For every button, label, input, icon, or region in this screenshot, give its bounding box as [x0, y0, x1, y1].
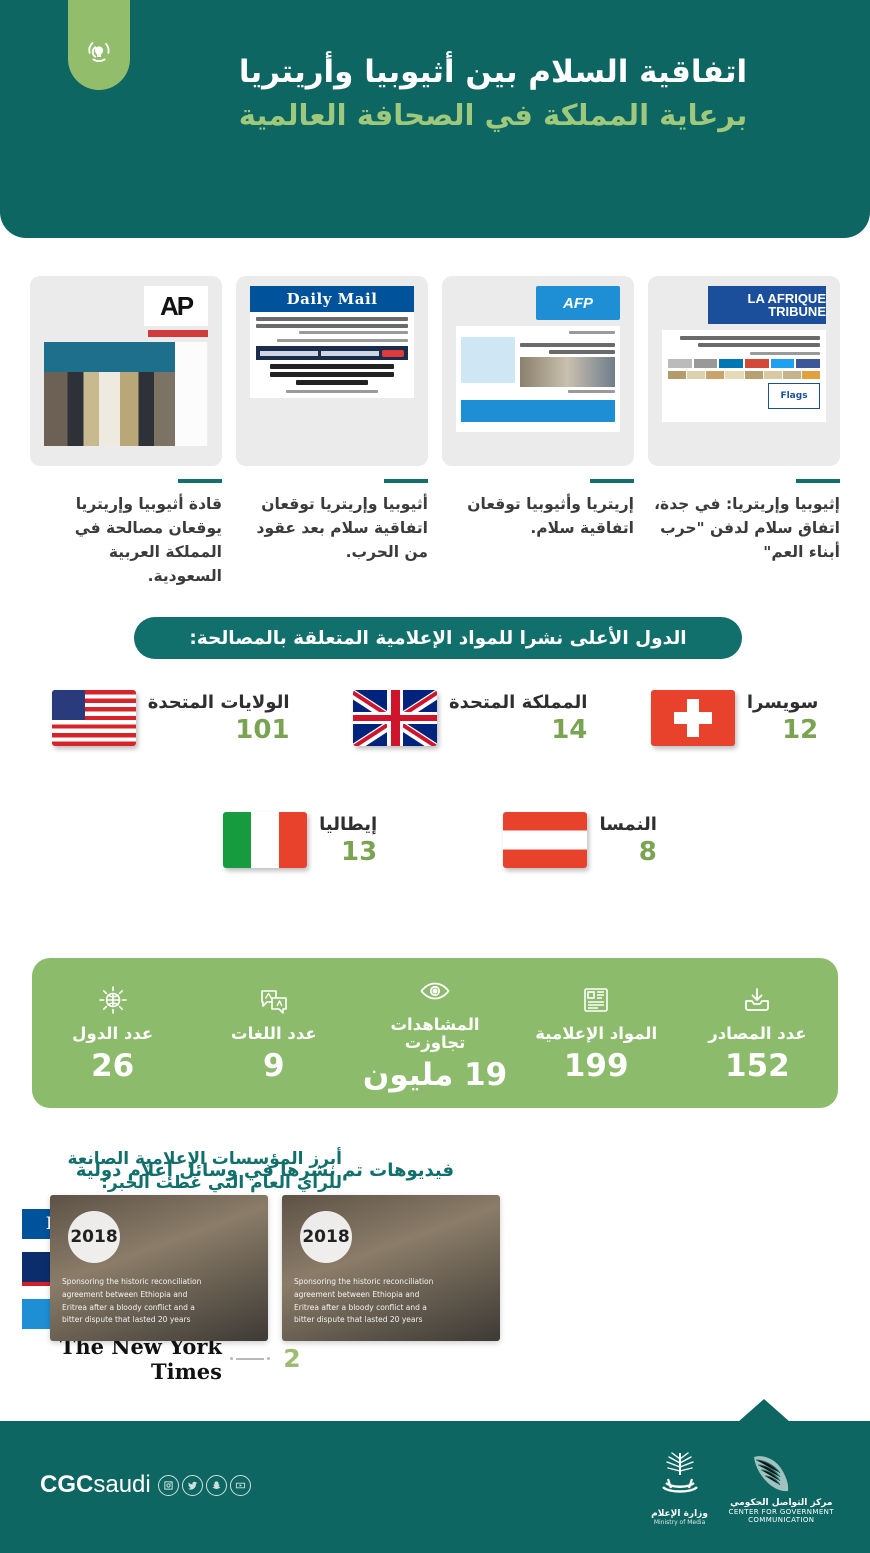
- ap-red-rule: [148, 330, 208, 337]
- news-card-la-tribune: LA AFRIQUETRIBUNE: [648, 276, 840, 588]
- footer-banner: CGCsaudi: [0, 1421, 870, 1553]
- eye-icon: [359, 973, 511, 1009]
- videos-title: فيديوهات تم نشرها في وسائل إعلام دولية: [30, 1160, 500, 1181]
- uk-flag-icon: [353, 690, 437, 746]
- stat-value: 19 مليون: [359, 1057, 511, 1093]
- stat-value: 152: [681, 1048, 833, 1084]
- country-name: المملكة المتحدة: [449, 692, 587, 713]
- countries-banner: الدول الأعلى نشرا للمواد الإعلامية المتع…: [134, 617, 742, 659]
- outlet-row-nyt: The New York Times 2: [22, 1342, 342, 1376]
- country-value: 8: [599, 837, 656, 867]
- news-card-caption: إثيوبيا وإريتريا: في جدة، اتفاق سلام لدف…: [648, 492, 840, 564]
- header-titles: اتفاقية السلام بين أثيوبيا وأريتريا برعا…: [150, 52, 836, 135]
- stat-label: المشاهدات تجاوزت: [359, 1016, 511, 1052]
- instagram-icon[interactable]: [158, 1475, 179, 1496]
- news-card-daily-mail: Daily Mail أثيوبيا وإريتريا توقعان اتفاق…: [236, 276, 428, 588]
- newspaper-icon: [520, 982, 672, 1018]
- stat-views: المشاهدات تجاوزت 19 مليون: [359, 973, 511, 1093]
- video-caption: Sponsoring the historic reconciliation a…: [294, 1276, 444, 1327]
- cgc-name-ar: مركز التواصل الحكومي: [729, 1498, 834, 1508]
- card-divider: [178, 479, 222, 483]
- country-item-us: الولايات المتحدة 101: [52, 690, 290, 746]
- news-card-caption: إريتريا وأثيوبيا توقعان اتفاقية سلام.: [442, 492, 634, 540]
- country-item-italy: إيطاليا 13: [223, 812, 377, 868]
- country-name: سويسرا: [747, 692, 818, 713]
- twitter-icon[interactable]: [182, 1475, 203, 1496]
- stat-label: عدد المصادر: [681, 1025, 833, 1043]
- news-card-afp: AFP: [442, 276, 634, 588]
- italy-flag-icon: [223, 812, 307, 868]
- country-name: إيطاليا: [319, 814, 377, 835]
- translate-icon: [198, 982, 350, 1018]
- stat-sources: عدد المصادر 152: [681, 982, 833, 1084]
- stat-languages: عدد اللغات 9: [198, 982, 350, 1084]
- countries-row-bottom: إيطاليا 13 النمسا 8: [160, 812, 720, 868]
- cgc-name-en-line1: CENTER FOR GOVERNMENT: [729, 1508, 834, 1516]
- country-item-uk: المملكة المتحدة 14: [353, 690, 587, 746]
- news-cards-row: AP قادة أثيوبيا وإريتريا يوقعان مصالحة ف…: [30, 276, 840, 588]
- stat-value: 199: [520, 1048, 672, 1084]
- youtube-icon[interactable]: [230, 1475, 251, 1496]
- cgc-center-logo: مركز التواصل الحكومي CENTER FOR GOVERNME…: [729, 1451, 834, 1524]
- news-card-caption: أثيوبيا وإريتريا توقعان اتفاقية سلام بعد…: [236, 492, 428, 564]
- page-subtitle: برعاية المملكة في الصحافة العالمية: [150, 96, 836, 135]
- globe-network-icon: [37, 982, 189, 1018]
- download-inbox-icon: [681, 982, 833, 1018]
- countries-row-top: الولايات المتحدة 101 المملكة المتحدة 14 …: [20, 690, 850, 746]
- stat-label: عدد اللغات: [198, 1025, 350, 1043]
- ap-logo: AP: [144, 286, 208, 326]
- connector-dots: [230, 1357, 270, 1360]
- snapchat-icon[interactable]: [206, 1475, 227, 1496]
- videos-section: فيديوهات تم نشرها في وسائل إعلام دولية 2…: [30, 1160, 500, 1341]
- cgc-name-en-line2: COMMUNICATION: [729, 1516, 834, 1524]
- afp-screenshot-thumbnail: AFP: [442, 276, 634, 466]
- header-banner: اتفاقية السلام بين أثيوبيا وأريتريا برعا…: [0, 0, 870, 238]
- austria-flag-icon: [503, 812, 587, 868]
- us-flag-icon: [52, 690, 136, 746]
- cgc-circular-logo-icon: [84, 36, 114, 66]
- country-item-austria: النمسا 8: [503, 812, 656, 868]
- ap-screenshot-thumbnail: AP: [30, 276, 222, 466]
- cgc-logo-tab: [68, 0, 130, 90]
- card-divider: [796, 479, 840, 483]
- country-item-switzerland: سويسرا 12: [651, 690, 818, 746]
- country-value: 14: [449, 715, 587, 745]
- card-divider: [590, 479, 634, 483]
- stat-value: 9: [198, 1048, 350, 1084]
- afp-logo: AFP: [536, 286, 620, 320]
- social-handle: CGCsaudi: [40, 1471, 151, 1499]
- video-thumbnail-2[interactable]: 2018 Sponsoring the historic reconciliat…: [50, 1195, 268, 1341]
- outlet-value: 2: [278, 1344, 306, 1373]
- handle-rest: saudi: [93, 1471, 150, 1498]
- social-links: CGCsaudi: [36, 1471, 251, 1499]
- new-york-times-logo: The New York Times: [22, 1344, 222, 1374]
- ministry-of-media-emblem: وزارة الإعلام Ministry of Media: [645, 1449, 715, 1526]
- country-name: النمسا: [599, 814, 656, 835]
- country-name: الولايات المتحدة: [148, 692, 290, 713]
- news-card-caption: قادة أثيوبيا وإريتريا يوقعان مصالحة في ا…: [30, 492, 222, 588]
- footer-logos: وزارة الإعلام Ministry of Media مركز الت…: [645, 1449, 834, 1526]
- news-card-ap: AP قادة أثيوبيا وإريتريا يوقعان مصالحة ف…: [30, 276, 222, 588]
- card-divider: [384, 479, 428, 483]
- infographic-page: اتفاقية السلام بين أثيوبيا وأريتريا برعا…: [0, 0, 870, 1553]
- stat-countries: عدد الدول 26: [37, 982, 189, 1084]
- daily-mail-screenshot-thumbnail: Daily Mail: [236, 276, 428, 466]
- video-caption: Sponsoring the historic reconciliation a…: [62, 1276, 212, 1327]
- stat-media-items: المواد الإعلامية 199: [520, 982, 672, 1084]
- country-value: 13: [319, 837, 377, 867]
- la-tribune-screenshot-thumbnail: LA AFRIQUETRIBUNE: [648, 276, 840, 466]
- ministry-name-en: Ministry of Media: [645, 1519, 715, 1526]
- country-value: 12: [747, 715, 818, 745]
- daily-mail-logo: Daily Mail: [250, 286, 414, 312]
- stat-value: 26: [37, 1048, 189, 1084]
- video-year-badge: 2018: [68, 1211, 120, 1263]
- statistics-bar: عدد الدول 26 عدد اللغات 9 المشاهدات تجاو…: [32, 958, 838, 1108]
- stat-label: عدد الدول: [37, 1025, 189, 1043]
- video-year-badge: 2018: [300, 1211, 352, 1263]
- ministry-name-ar: وزارة الإعلام: [645, 1509, 715, 1519]
- switzerland-flag-icon: [651, 690, 735, 746]
- country-value: 101: [148, 715, 290, 745]
- la-tribune-logo: LA AFRIQUETRIBUNE: [708, 286, 826, 324]
- video-thumbnail-1[interactable]: 2018 Sponsoring the historic reconciliat…: [282, 1195, 500, 1341]
- stat-label: المواد الإعلامية: [520, 1025, 672, 1043]
- handle-bold: CGC: [40, 1471, 93, 1498]
- footer-notch: [738, 1399, 790, 1422]
- page-title: اتفاقية السلام بين أثيوبيا وأريتريا: [150, 52, 836, 92]
